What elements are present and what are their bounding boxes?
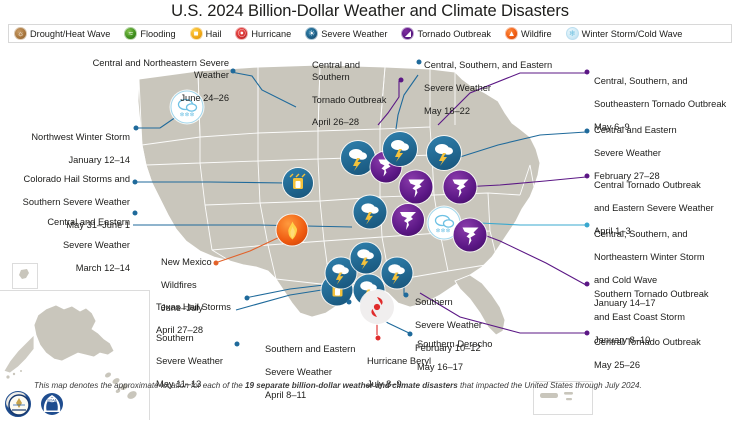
callout-line: Central, Southern, and bbox=[594, 76, 688, 86]
legend-label: Winter Storm/Cold Wave bbox=[582, 29, 683, 39]
connector-dot[interactable] bbox=[585, 282, 590, 287]
callout-line: Southern bbox=[415, 297, 453, 307]
map-icon-central-eastern-severe-weather-mar[interactable] bbox=[354, 196, 387, 229]
connector-dot[interactable] bbox=[585, 70, 590, 75]
callout-date: April 8–11 bbox=[265, 390, 306, 400]
callout-line: New Mexico bbox=[161, 257, 212, 267]
hail-icon: ■ bbox=[190, 27, 203, 40]
callout-line: Central and Eastern bbox=[594, 125, 677, 135]
tornado-outbreak-icon: ◢ bbox=[401, 27, 414, 40]
callout-central-eastern-severe-weather-mar: Central and Eastern Severe Weather March… bbox=[8, 206, 130, 274]
callout-line: Southeastern Tornado Outbreak bbox=[594, 99, 726, 109]
callout-line: Central, Southern, and Eastern bbox=[424, 60, 552, 70]
connector-dot[interactable] bbox=[417, 60, 422, 65]
map-icon-new-mexico-wildfires[interactable] bbox=[277, 215, 308, 246]
callout-line: and Eastern Severe Weather bbox=[594, 203, 714, 213]
connector-dot[interactable] bbox=[245, 296, 250, 301]
callout-date: May 16–17 bbox=[417, 362, 463, 372]
callout-central-southern-eastern-severe-weather: Central, Southern, and Eastern Severe We… bbox=[424, 49, 564, 117]
legend-label: Drought/Heat Wave bbox=[30, 29, 110, 39]
callout-date: May 25–26 bbox=[594, 360, 640, 370]
callout-line: Central, Southern, and bbox=[594, 229, 688, 239]
map-icon-colorado-hail-storms[interactable] bbox=[283, 168, 313, 198]
callout-line: Central and Northeastern Severe Weather bbox=[93, 58, 229, 79]
noaa-logo: NOAA bbox=[39, 391, 65, 417]
legend-item-tornado-outbreak[interactable]: ◢ Tornado Outbreak bbox=[401, 27, 491, 40]
legend-item-hail[interactable]: ■ Hail bbox=[190, 27, 222, 40]
callout-date: June 24–26 bbox=[180, 93, 229, 103]
legend-label: Wildfire bbox=[521, 29, 552, 39]
callout-southern-derecho: Southern Derecho May 16–17 bbox=[417, 328, 513, 374]
callout-line: Southern and Eastern bbox=[265, 344, 355, 354]
callout-line: Severe Weather bbox=[156, 356, 223, 366]
connector-dot[interactable] bbox=[585, 174, 590, 179]
map-icon-southern-severe-weather-feb[interactable] bbox=[382, 258, 413, 289]
callout-line: Severe Weather bbox=[265, 367, 332, 377]
callout-line: Central and Southern bbox=[312, 60, 360, 81]
map-icon-central-tornado-outbreak-may[interactable] bbox=[392, 204, 424, 236]
map-icon-central-eastern-severe-weather-feb[interactable] bbox=[427, 136, 461, 170]
callout-line: Northwest Winter Storm bbox=[31, 132, 130, 142]
legend-label: Hail bbox=[206, 29, 222, 39]
callout-line: Severe Weather bbox=[424, 83, 491, 93]
connector-dot[interactable] bbox=[231, 69, 236, 74]
department-of-commerce-seal bbox=[5, 391, 31, 417]
legend-label: Severe Weather bbox=[321, 29, 387, 39]
connector-dot[interactable] bbox=[585, 331, 590, 336]
severe-weather-icon: ☀ bbox=[305, 27, 318, 40]
callout-line: Severe Weather bbox=[594, 148, 661, 158]
connector-dot[interactable] bbox=[347, 300, 352, 305]
winter-storm-cold-wave-icon: ❄ bbox=[566, 27, 579, 40]
hurricane-icon: ⦿ bbox=[235, 27, 248, 40]
footnote-suffix: that impacted the United States through … bbox=[458, 381, 642, 390]
footnote: This map denotes the approximate locatio… bbox=[34, 380, 724, 391]
footnote-prefix: This map denotes the approximate locatio… bbox=[34, 381, 245, 390]
callout-line: Southern Derecho bbox=[417, 339, 492, 349]
connector-dot[interactable] bbox=[404, 293, 409, 298]
callout-line: Tornado Outbreak bbox=[312, 95, 386, 105]
map-icon-hurricane-beryl[interactable] bbox=[360, 290, 394, 324]
callout-line: Colorado Hail Storms and bbox=[24, 174, 130, 184]
callout-central-northeastern-severe-weather: Central and Northeastern Severe Weather … bbox=[75, 47, 229, 104]
connector-dot[interactable] bbox=[214, 261, 219, 266]
callout-line: Central Tornado Outbreak bbox=[594, 337, 701, 347]
legend-item-wildfire[interactable]: ▲ Wildfire bbox=[505, 27, 552, 40]
map-icon-central-southern-eastern-severe-weather[interactable] bbox=[383, 132, 417, 166]
map-icon-southern-derecho[interactable] bbox=[351, 243, 382, 274]
callout-line: Southern Tornado Outbreak bbox=[594, 289, 709, 299]
callout-line: Wildfires bbox=[161, 280, 197, 290]
legend-item-drought-heat-wave[interactable]: ☼ Drought/Heat Wave bbox=[14, 27, 110, 40]
map-icon-southern-tornado-outbreak-east-coast-storm[interactable] bbox=[454, 219, 487, 252]
callout-southern-eastern-severe-weather-apr: Southern and Eastern Severe Weather Apri… bbox=[265, 333, 365, 401]
flooding-icon: ≈ bbox=[124, 27, 137, 40]
footnote-emphasis: 19 separate billion-dollar weather and c… bbox=[245, 381, 458, 390]
callout-line: Central and Eastern bbox=[47, 217, 130, 227]
connector-dot[interactable] bbox=[133, 211, 138, 216]
map-icon-central-southern-southeastern-tornado-outbreak[interactable] bbox=[400, 171, 433, 204]
callout-date: May 18–22 bbox=[424, 106, 470, 116]
connector-dot[interactable] bbox=[235, 342, 240, 347]
legend-item-severe-weather[interactable]: ☀ Severe Weather bbox=[305, 27, 387, 40]
legend-item-flooding[interactable]: ≈ Flooding bbox=[124, 27, 175, 40]
callout-date: March 12–14 bbox=[76, 263, 130, 273]
legend-item-winter-storm-cold-wave[interactable]: ❄ Winter Storm/Cold Wave bbox=[566, 27, 683, 40]
callout-line: Northeastern Winter Storm bbox=[594, 252, 705, 262]
svg-text:❄❄❄: ❄❄❄ bbox=[179, 111, 194, 118]
legend-label: Tornado Outbreak bbox=[417, 29, 491, 39]
connector-dot[interactable] bbox=[585, 223, 590, 228]
legend-item-hurricane[interactable]: ⦿ Hurricane bbox=[235, 27, 291, 40]
connector-dot[interactable] bbox=[133, 180, 138, 185]
connector-dot[interactable] bbox=[408, 332, 413, 337]
callout-line: and East Coast Storm bbox=[594, 312, 685, 322]
map-icon-central-tornado-outbreak-eastern-severe-weather[interactable] bbox=[444, 171, 477, 204]
callout-central-southern-tornado-outbreak: Central and Southern Tornado Outbreak Ap… bbox=[312, 49, 400, 129]
connector-dot[interactable] bbox=[376, 336, 381, 341]
callout-line: Severe Weather bbox=[63, 240, 130, 250]
connector-dot[interactable] bbox=[134, 126, 139, 131]
legend-label: Hurricane bbox=[251, 29, 291, 39]
disaster-map-page: U.S. 2024 Billion-Dollar Weather and Cli… bbox=[0, 0, 740, 401]
svg-text:❄❄❄: ❄❄❄ bbox=[435, 227, 450, 234]
page-title: U.S. 2024 Billion-Dollar Weather and Cli… bbox=[0, 2, 740, 21]
map-canvas: ❄❄❄ bbox=[0, 45, 740, 375]
wildfire-icon: ▲ bbox=[505, 27, 518, 40]
legend: ☼ Drought/Heat Wave ≈ Flooding ■ Hail ⦿ … bbox=[8, 24, 732, 43]
callout-line: Southern bbox=[156, 333, 194, 343]
legend-label: Flooding bbox=[140, 29, 175, 39]
callout-central-tornado-outbreak-may: Central Tornado Outbreak May 25–26 bbox=[594, 326, 740, 372]
drought-heat-wave-icon: ☼ bbox=[14, 27, 27, 40]
connector-dot[interactable] bbox=[585, 129, 590, 134]
callout-line: Texas Hail Storms bbox=[156, 302, 231, 312]
callout-date: April 26–28 bbox=[312, 117, 359, 127]
connector-dot[interactable] bbox=[399, 78, 404, 83]
callout-line: Central Tornado Outbreak bbox=[594, 180, 701, 190]
callout-northwest-winter-storm: Northwest Winter Storm January 12–14 bbox=[8, 121, 130, 167]
